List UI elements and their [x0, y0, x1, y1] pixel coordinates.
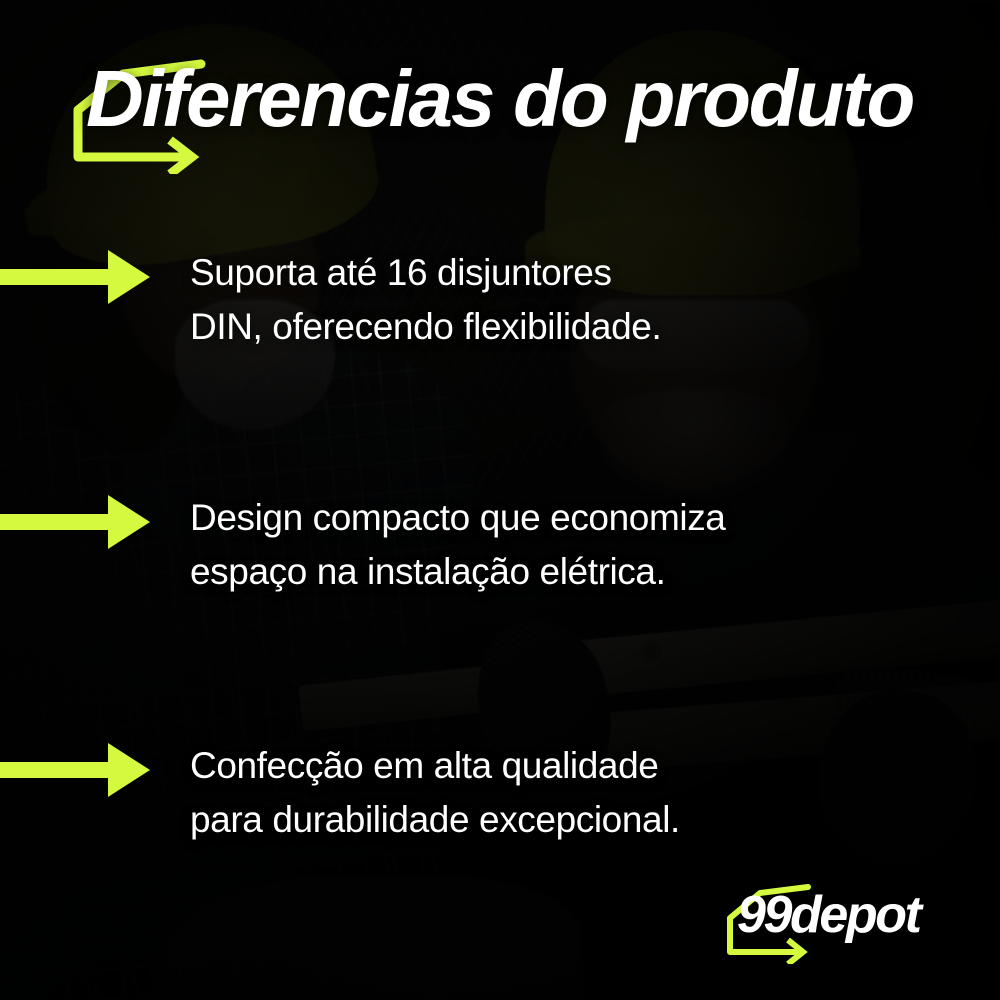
- feature-item-3: Confecção em alta qualidade para durabil…: [0, 739, 1000, 846]
- feature-text-3: Confecção em alta qualidade para durabil…: [190, 739, 680, 846]
- right-arrow-icon: [0, 739, 152, 801]
- brand-logo-wordmark: 99depot: [737, 889, 920, 941]
- brand-logo-word: depot: [790, 886, 920, 944]
- feature-item-2: Design compacto que economiza espaço na …: [0, 491, 1000, 598]
- right-arrow-icon: [0, 246, 152, 308]
- brand-logo[interactable]: 99depot: [722, 878, 962, 964]
- brand-logo-mark: 99: [737, 886, 790, 944]
- feature-text-2: Design compacto que economiza espaço na …: [190, 491, 726, 598]
- feature-list: Suporta até 16 disjuntores DIN, oferecen…: [0, 0, 1000, 1000]
- social-card-canvas: Diferencias do produto Suporta até 16 di…: [0, 0, 1000, 1000]
- right-arrow-icon: [0, 491, 152, 553]
- content-layer: Diferencias do produto Suporta até 16 di…: [0, 0, 1000, 1000]
- feature-item-1: Suporta até 16 disjuntores DIN, oferecen…: [0, 246, 1000, 353]
- feature-text-1: Suporta até 16 disjuntores DIN, oferecen…: [190, 246, 661, 353]
